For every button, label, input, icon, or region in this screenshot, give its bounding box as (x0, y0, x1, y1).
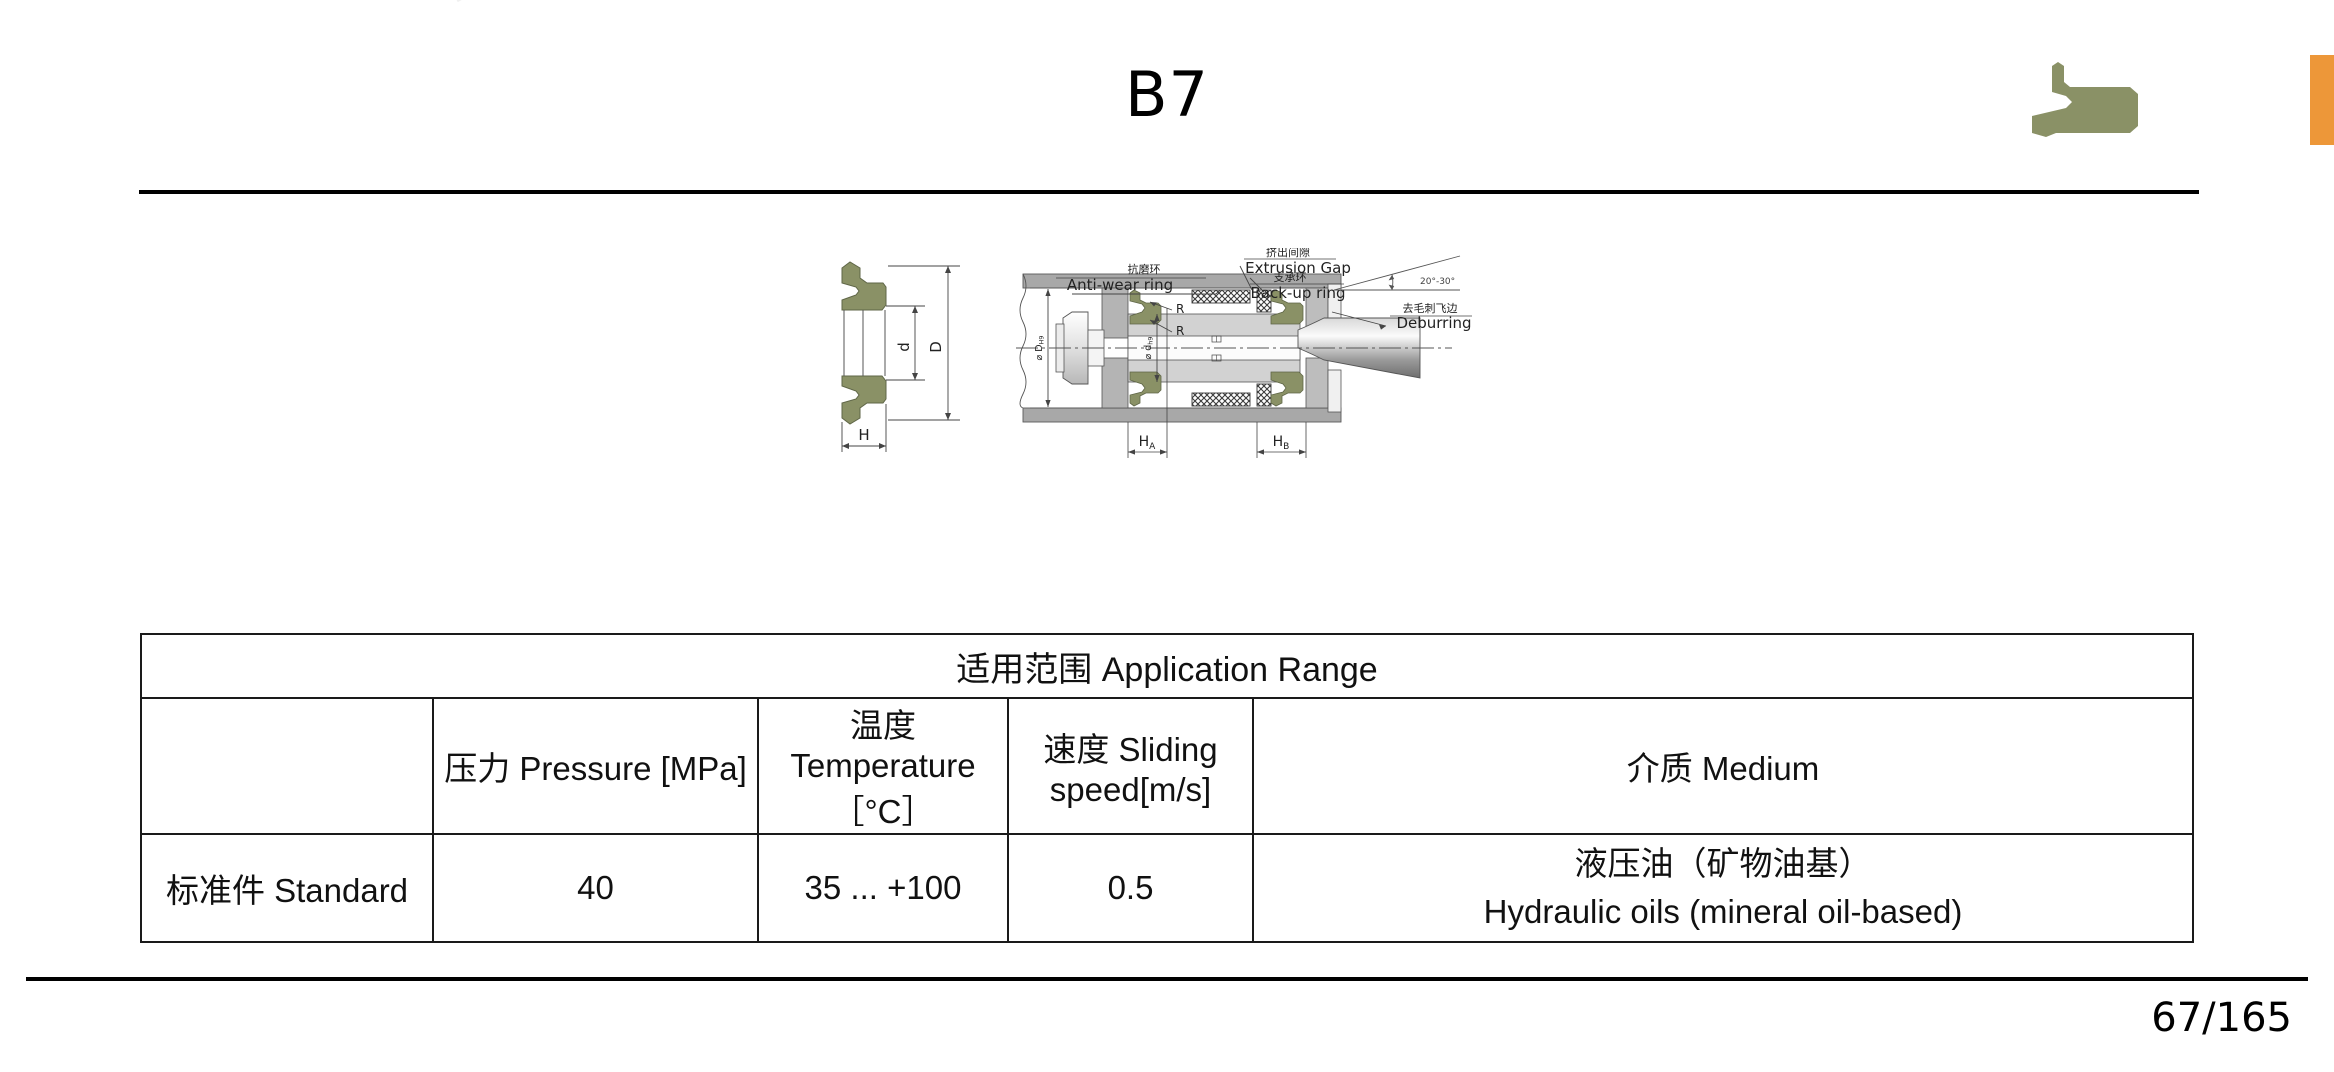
cell-temperature: 35 ... +100 (758, 834, 1008, 942)
seal-installation-drawing: d D H (820, 248, 1520, 598)
cell-type: 标准件 Standard (141, 834, 433, 942)
table-title-cell: 适用范围 Application Range (141, 634, 2193, 698)
dim-ha-label: HA (1139, 434, 1157, 452)
cell-medium-cn: 液压油（矿物油基） (1260, 840, 2186, 888)
callout-backup-ring-cn: 支承环 (1274, 271, 1307, 284)
header-medium: 介质 Medium (1253, 698, 2193, 834)
callout-deburring-en: Deburring (1396, 314, 1471, 332)
footer-rule (26, 977, 2308, 981)
dim-d-label: d (895, 342, 913, 352)
dim-H-label: H (858, 426, 869, 444)
radius-label-1: R (1176, 302, 1184, 316)
page-title: B7 (0, 58, 2334, 131)
cell-medium: 液压油（矿物油基） Hydraulic oils (mineral oil-ba… (1253, 834, 2193, 942)
cell-speed: 0.5 (1008, 834, 1253, 942)
document-page: DLS B7 (0, 0, 2334, 1072)
callout-anti-wear-en: Anti-wear ring (1067, 276, 1173, 294)
callout-deburring: 去毛刺飞边 Deburring (1396, 302, 1471, 332)
callout-backup-ring-en: Back-up ring (1251, 284, 1346, 302)
callout-extrusion-gap-cn: 挤出间隙 (1266, 248, 1310, 259)
table-title-row: 适用范围 Application Range (141, 634, 2193, 698)
cell-medium-en: Hydraulic oils (mineral oil-based) (1260, 888, 2186, 936)
cell-pressure: 40 (433, 834, 758, 942)
dim-bore-label: ⌀ DH9 (1034, 335, 1046, 360)
callout-anti-wear-cn: 抗磨环 (1128, 262, 1161, 276)
radius-label-2: R (1176, 324, 1184, 338)
seal-section-left: d D H (842, 262, 960, 452)
header-temperature: 温度 Temperature［°C］ (758, 698, 1008, 834)
header-speed: 速度 Sliding speed[m/s] (1008, 698, 1253, 834)
dim-hb-label: HB (1273, 434, 1290, 452)
header-rule (139, 190, 2199, 194)
page-number: 67/165 (2151, 995, 2292, 1041)
table-row: 标准件 Standard 40 35 ... +100 0.5 液压油（矿物油基… (141, 834, 2193, 942)
header-blank-cell (141, 698, 433, 834)
application-range-table: 适用范围 Application Range 压力 Pressure [MPa]… (140, 633, 2194, 943)
header-pressure: 压力 Pressure [MPa] (433, 698, 758, 834)
chamfer-angle-label: 20°-30° (1420, 277, 1455, 287)
table-header-row: 压力 Pressure [MPa] 温度 Temperature［°C］ 速度 … (141, 698, 2193, 834)
dim-D-label: D (927, 341, 945, 353)
assembly-section: ⌀ DH9 ⌀ dh9 HA (1016, 248, 1472, 458)
